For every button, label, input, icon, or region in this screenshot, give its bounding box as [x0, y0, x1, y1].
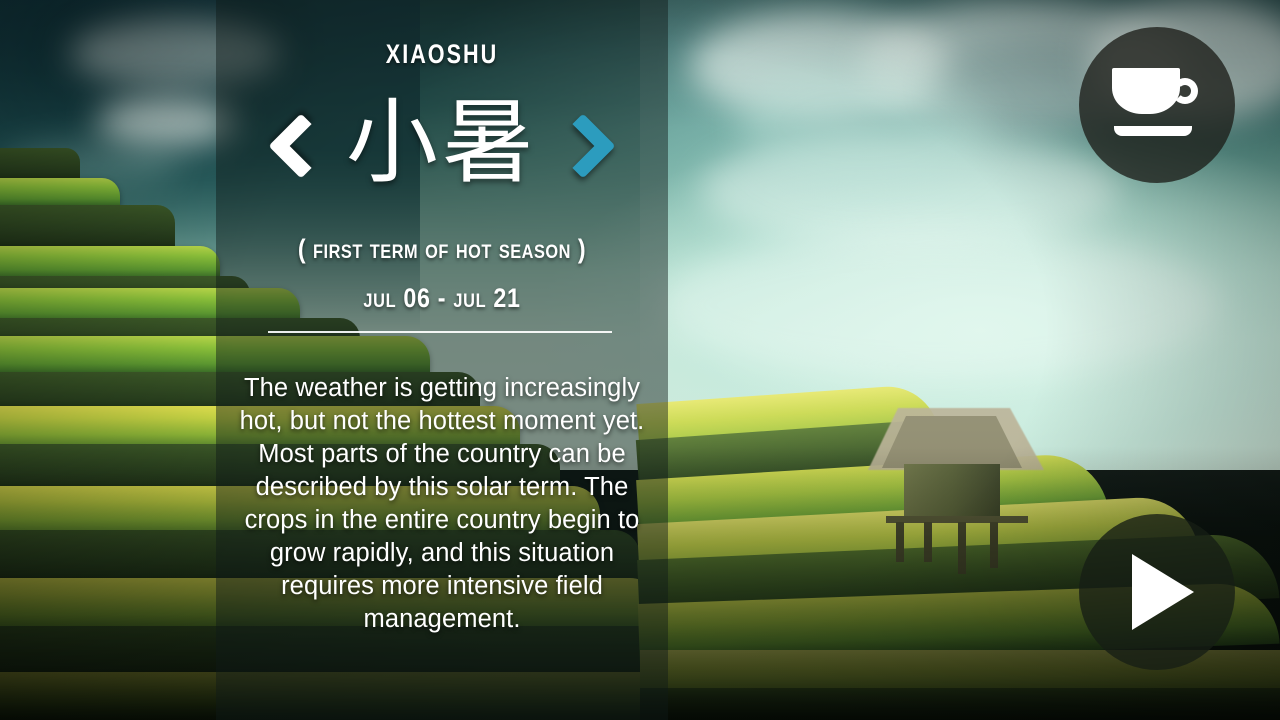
- divider: [268, 331, 612, 333]
- play-icon: [1132, 554, 1194, 630]
- term-date-range: Jul 06 - Jul 21: [248, 283, 637, 314]
- solar-term-card: Xiaoshu 小暑 ( First Term of Hot Season ) …: [0, 0, 1280, 720]
- page-title: Xiaoshu: [261, 31, 623, 70]
- coffee-button[interactable]: [1079, 27, 1235, 183]
- chevron-right-icon[interactable]: [550, 113, 615, 178]
- info-panel: Xiaoshu 小暑 ( First Term of Hot Season ) …: [216, 0, 668, 720]
- coffee-cup-icon: [1112, 68, 1202, 142]
- term-nav-row: 小暑: [216, 96, 668, 196]
- chevron-left-icon[interactable]: [268, 113, 333, 178]
- cup-body: [1112, 68, 1180, 114]
- term-translation: ( First Term of Hot Season ): [248, 234, 637, 265]
- cup-saucer: [1114, 126, 1192, 136]
- term-description: The weather is getting increasingly hot,…: [230, 372, 654, 636]
- play-button[interactable]: [1079, 514, 1235, 670]
- chinese-term-name: 小暑: [346, 97, 538, 195]
